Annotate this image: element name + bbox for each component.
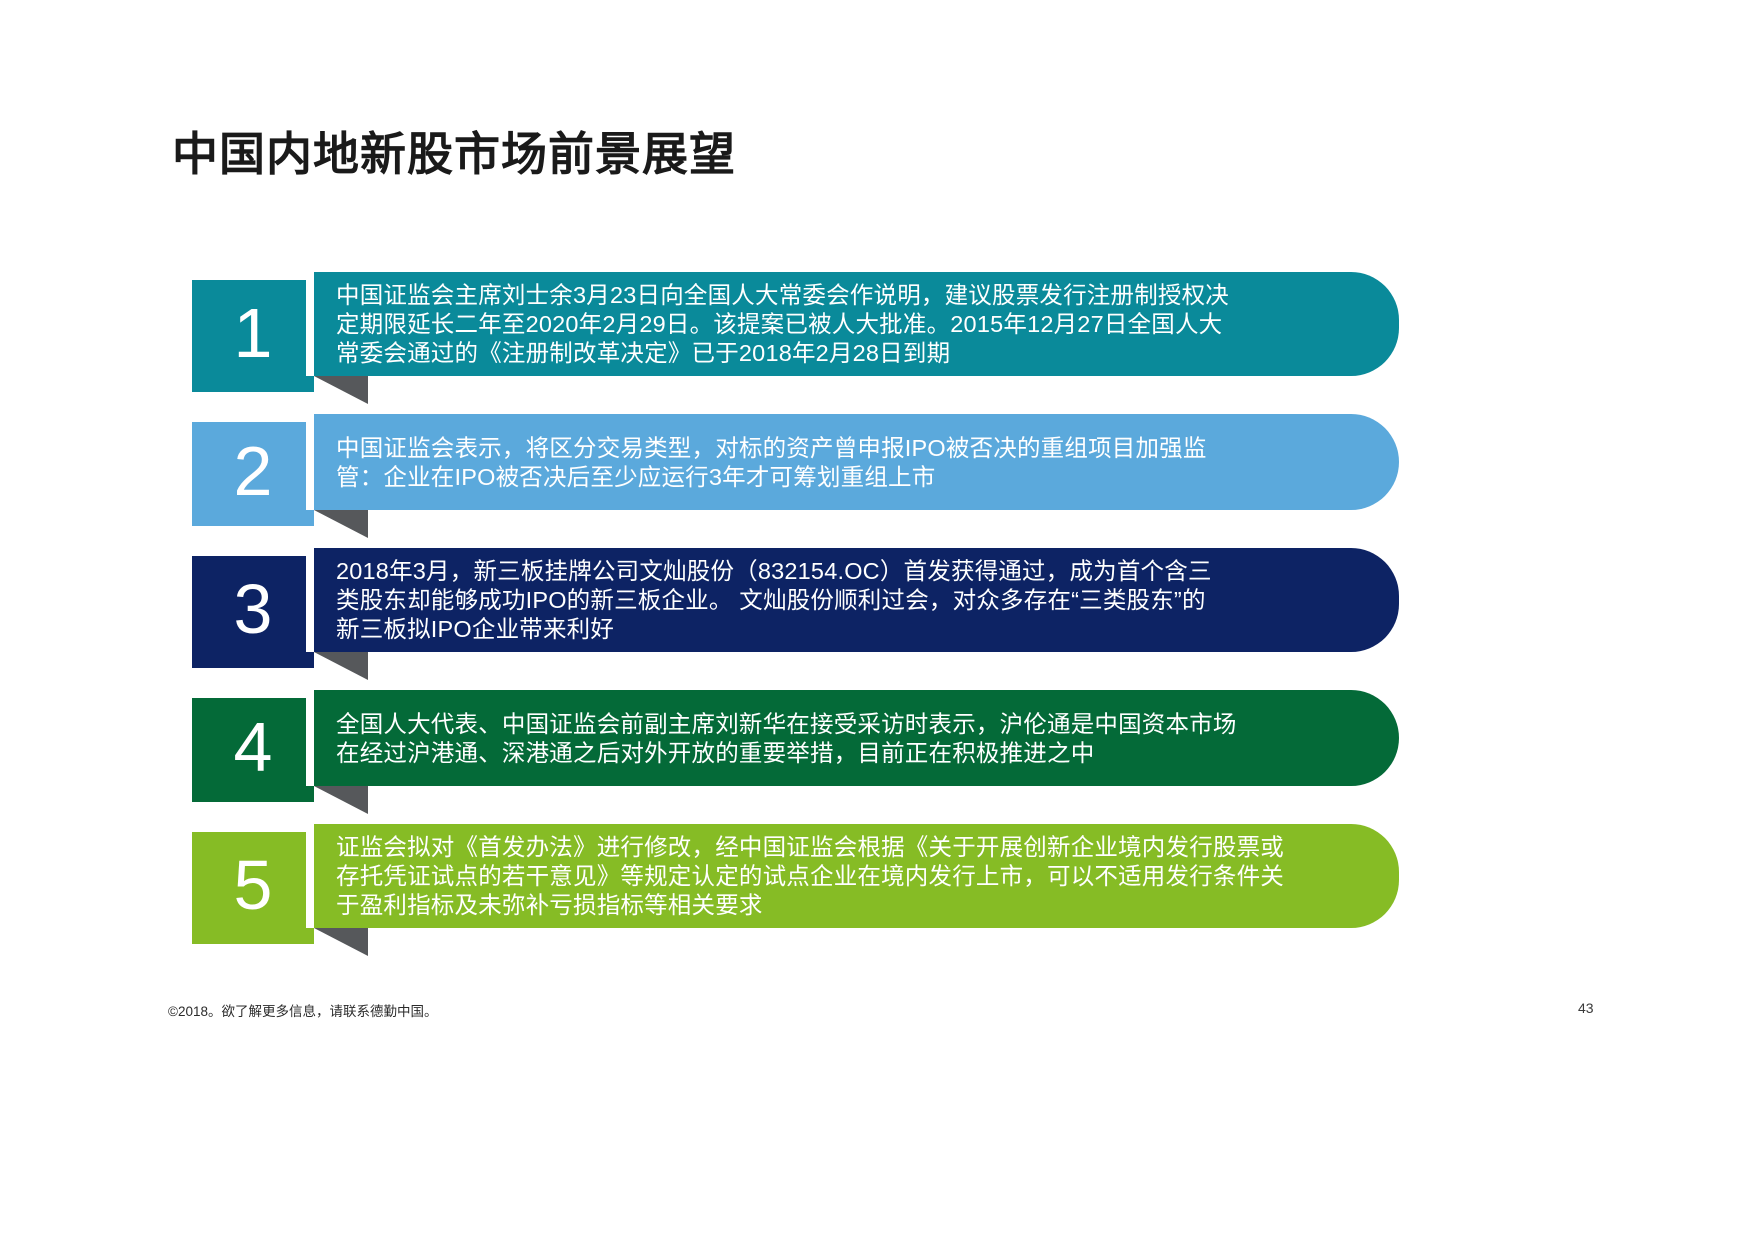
item-text-line: 定期限延长二年至2020年2月29日。该提案已被人大批准。2015年12月27日… — [336, 310, 1351, 339]
item-number-label: 4 — [234, 712, 273, 788]
fold-shadow-5 — [314, 928, 368, 956]
item-number-label: 3 — [234, 574, 273, 650]
item-number-badge-2: 2 — [192, 422, 314, 526]
item-text-line: 新三板拟IPO企业带来利好 — [336, 615, 1351, 644]
item-number-label: 1 — [234, 298, 273, 374]
item-text-line: 存托凭证试点的若干意见》等规定认定的试点企业在境内发行上市，可以不适用发行条件关 — [336, 862, 1351, 891]
item-text-line: 中国证监会表示，将区分交易类型，对标的资产曾申报IPO被否决的重组项目加强监 — [336, 434, 1351, 463]
item-text-line: 类股东却能够成功IPO的新三板企业。 文灿股份顺利过会，对众多存在“三类股东”的 — [336, 586, 1351, 615]
item-number-badge-5: 5 — [192, 832, 314, 944]
fold-shadow-3 — [314, 652, 368, 680]
fold-shadow-2 — [314, 510, 368, 538]
item-text-line: 证监会拟对《首发办法》进行修改，经中国证监会根据《关于开展创新企业境内发行股票或 — [336, 833, 1351, 862]
item-text-line: 常委会通过的《注册制改革决定》已于2018年2月28日到期 — [336, 339, 1351, 368]
list-item: 3 2018年3月，新三板挂牌公司文灿股份（832154.OC）首发获得通过，成… — [0, 548, 1754, 668]
page-title: 中国内地新股市场前景展望 — [172, 118, 736, 184]
item-number-badge-4: 4 — [192, 698, 314, 802]
item-text-banner-4: 全国人大代表、中国证监会前副主席刘新华在接受采访时表示，沪伦通是中国资本市场 在… — [314, 690, 1399, 786]
fold-shadow-1 — [314, 376, 368, 404]
item-text-line: 全国人大代表、中国证监会前副主席刘新华在接受采访时表示，沪伦通是中国资本市场 — [336, 710, 1351, 739]
item-text-line: 管：企业在IPO被否决后至少应运行3年才可筹划重组上市 — [336, 463, 1351, 492]
item-text-line: 2018年3月，新三板挂牌公司文灿股份（832154.OC）首发获得通过，成为首… — [336, 557, 1351, 586]
item-text-banner-5: 证监会拟对《首发办法》进行修改，经中国证监会根据《关于开展创新企业境内发行股票或… — [314, 824, 1399, 928]
slide-canvas: 中国内地新股市场前景展望 1 中国证监会主席刘士余3月23日向全国人大常委会作说… — [0, 0, 1754, 1240]
item-text-line: 中国证监会主席刘士余3月23日向全国人大常委会作说明，建议股票发行注册制授权决 — [336, 281, 1351, 310]
list-item: 4 全国人大代表、中国证监会前副主席刘新华在接受采访时表示，沪伦通是中国资本市场… — [0, 690, 1754, 802]
item-text-banner-1: 中国证监会主席刘士余3月23日向全国人大常委会作说明，建议股票发行注册制授权决 … — [314, 272, 1399, 376]
item-number-label: 2 — [234, 436, 273, 512]
page-number: 43 — [1578, 1000, 1594, 1016]
list-item: 2 中国证监会表示，将区分交易类型，对标的资产曾申报IPO被否决的重组项目加强监… — [0, 414, 1754, 526]
item-text-banner-3: 2018年3月，新三板挂牌公司文灿股份（832154.OC）首发获得通过，成为首… — [314, 548, 1399, 652]
item-text-line: 于盈利指标及未弥补亏损指标等相关要求 — [336, 891, 1351, 920]
item-number-label: 5 — [234, 850, 273, 926]
fold-shadow-4 — [314, 786, 368, 814]
item-number-badge-1: 1 — [192, 280, 314, 392]
item-number-badge-3: 3 — [192, 556, 314, 668]
item-text-line: 在经过沪港通、深港通之后对外开放的重要举措，目前正在积极推进之中 — [336, 739, 1351, 768]
footer-copyright: ©2018。欲了解更多信息，请联系德勤中国。 — [168, 1000, 437, 1020]
list-item: 1 中国证监会主席刘士余3月23日向全国人大常委会作说明，建议股票发行注册制授权… — [0, 272, 1754, 392]
item-text-banner-2: 中国证监会表示，将区分交易类型，对标的资产曾申报IPO被否决的重组项目加强监 管… — [314, 414, 1399, 510]
numbered-list: 1 中国证监会主席刘士余3月23日向全国人大常委会作说明，建议股票发行注册制授权… — [0, 272, 1754, 966]
list-item: 5 证监会拟对《首发办法》进行修改，经中国证监会根据《关于开展创新企业境内发行股… — [0, 824, 1754, 944]
